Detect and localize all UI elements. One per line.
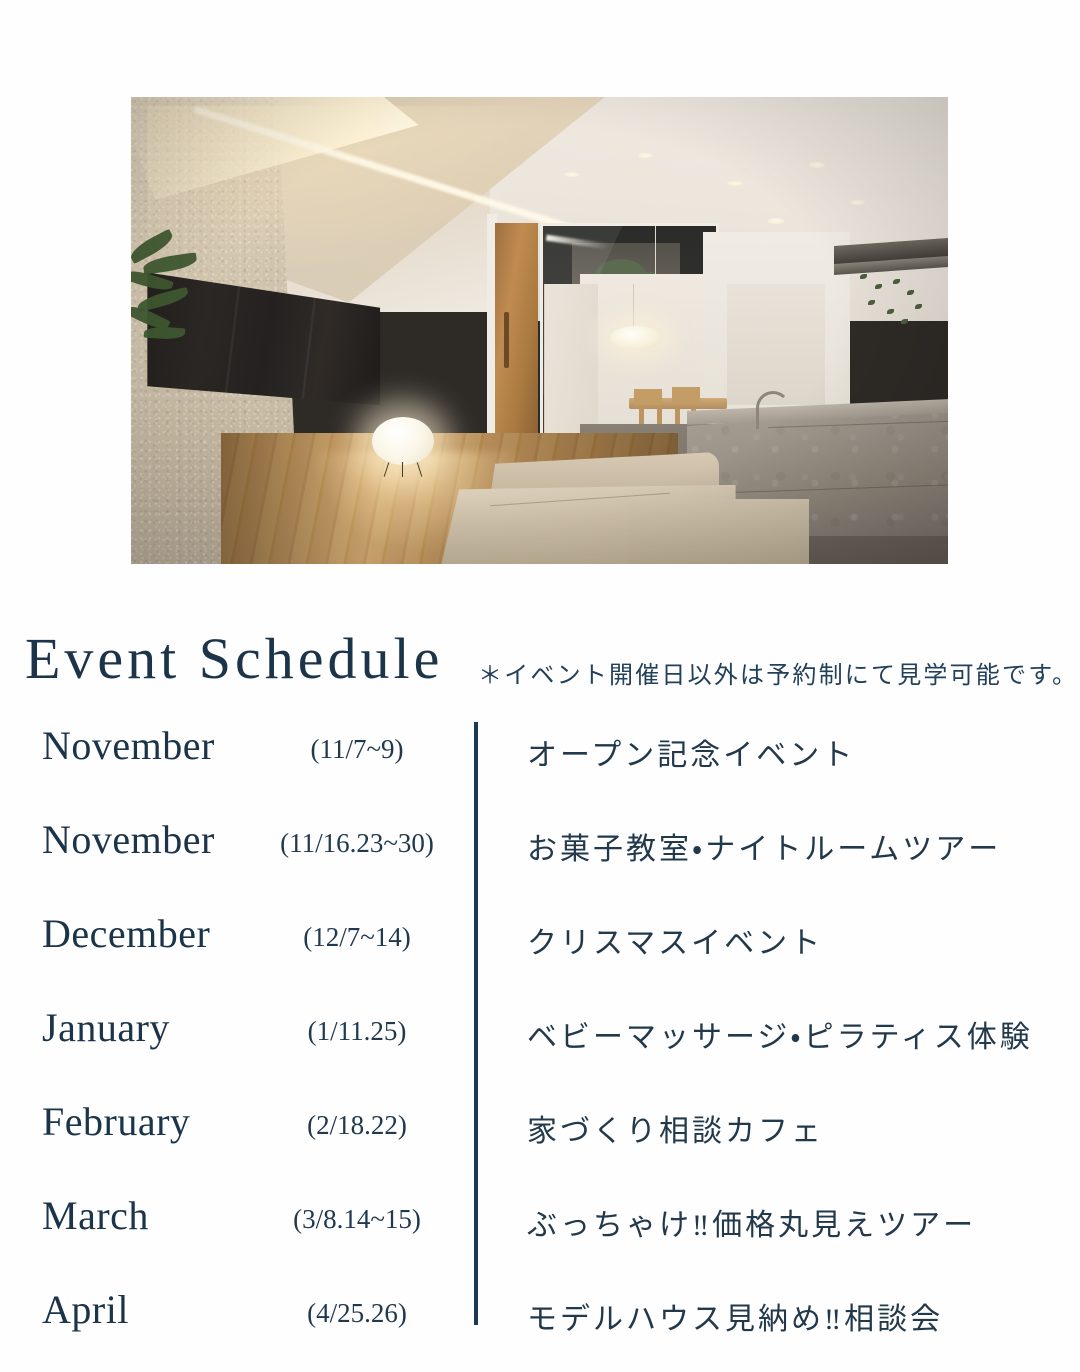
closet-panel	[544, 284, 598, 443]
schedule-row: April(4/25.26)モデルハウス見納め‼相談会	[0, 1278, 1080, 1372]
schedule-dates: (2/18.22)	[252, 1110, 462, 1141]
interior-render	[131, 97, 948, 564]
sofa-chaise	[629, 499, 809, 564]
hanging-plant-icon	[850, 265, 948, 349]
reservation-note: ＊イベント開催日以外は予約制にて見学可能です。	[478, 655, 1078, 690]
schedule-event-name: 家づくり相談カフェ	[527, 1106, 824, 1150]
schedule-row: January(1/11.25)ベビーマッサージ・ピラティス体験	[0, 996, 1080, 1090]
schedule-event-name: ベビーマッサージ・ピラティス体験	[527, 1012, 1033, 1056]
schedule-row: February(2/18.22)家づくり相談カフェ	[0, 1090, 1080, 1184]
schedule-list: November(11/7~9)オープン記念イベントNovember(11/16…	[0, 714, 1080, 1372]
door-handle	[504, 312, 510, 368]
schedule-event-name: クリスマスイベント	[527, 918, 823, 962]
schedule-row: March(3/8.14~15)ぶっちゃけ‼価格丸見えツアー	[0, 1184, 1080, 1278]
wall-niche	[727, 284, 825, 405]
hero-photo	[131, 97, 948, 564]
schedule-event-name: オープン記念イベント	[527, 730, 855, 774]
wooden-door	[495, 223, 537, 433]
pendant-cord	[633, 284, 634, 331]
schedule-dates: (1/11.25)	[252, 1016, 462, 1047]
oval-pendant-lamp	[610, 326, 662, 350]
schedule-dates: (3/8.14~15)	[252, 1204, 462, 1235]
schedule-event-name: モデルハウス見納め‼相談会	[527, 1294, 943, 1338]
schedule-row: November(11/7~9)オープン記念イベント	[0, 714, 1080, 808]
schedule-event-name: お菓子教室・ナイトルームツアー	[527, 824, 1001, 868]
indoor-plant-icon	[131, 237, 213, 349]
floor-lamp-globe	[372, 417, 434, 465]
page-title: Event Schedule	[25, 630, 443, 688]
schedule-row: December(12/7~14)クリスマスイベント	[0, 902, 1080, 996]
schedule-dates: (11/7~9)	[252, 734, 462, 765]
schedule-event-name: ぶっちゃけ‼価格丸見えツアー	[527, 1200, 976, 1244]
schedule-row: November(11/16.23~30)お菓子教室・ナイトルームツアー	[0, 808, 1080, 902]
kitchen-faucet	[756, 391, 790, 429]
schedule-dates: (12/7~14)	[252, 922, 462, 953]
schedule-dates: (11/16.23~30)	[252, 828, 462, 859]
schedule-dates: (4/25.26)	[252, 1298, 462, 1329]
